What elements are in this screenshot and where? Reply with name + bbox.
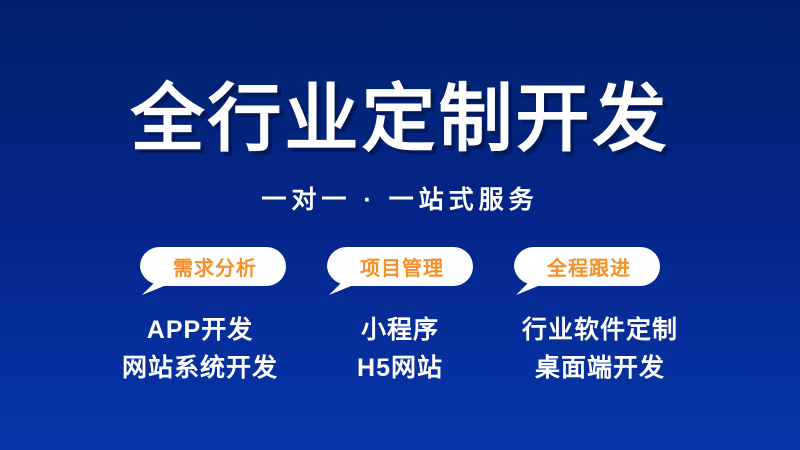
badge-row: 需求分析 项目管理 全程跟进 <box>140 247 660 286</box>
service-column: APP开发 网站系统开发 <box>100 316 300 383</box>
badge-requirement-analysis[interactable]: 需求分析 <box>140 247 286 286</box>
service-column: 行业软件定制 桌面端开发 <box>500 316 700 383</box>
badge-label: 全程跟进 <box>514 247 660 286</box>
badge-label: 项目管理 <box>327 247 473 286</box>
service-column: 小程序 H5网站 <box>300 316 500 383</box>
badge-project-management[interactable]: 项目管理 <box>327 247 473 286</box>
service-item: 小程序 <box>361 316 439 345</box>
service-item: 行业软件定制 <box>522 316 678 345</box>
badge-label: 需求分析 <box>140 247 286 286</box>
service-item: 桌面端开发 <box>535 354 665 383</box>
subtitle: 一对一 · 一站式服务 <box>261 180 538 216</box>
service-item: H5网站 <box>357 354 443 383</box>
service-item: 网站系统开发 <box>122 354 278 383</box>
service-item: APP开发 <box>147 316 253 345</box>
headline: 全行业定制开发 <box>131 82 670 156</box>
badge-full-process-tracking[interactable]: 全程跟进 <box>514 247 660 286</box>
services-list: APP开发 网站系统开发 小程序 H5网站 行业软件定制 桌面端开发 <box>100 316 700 383</box>
promo-banner: 全行业定制开发 一对一 · 一站式服务 需求分析 项目管理 全程跟进 APP开发… <box>0 0 800 450</box>
